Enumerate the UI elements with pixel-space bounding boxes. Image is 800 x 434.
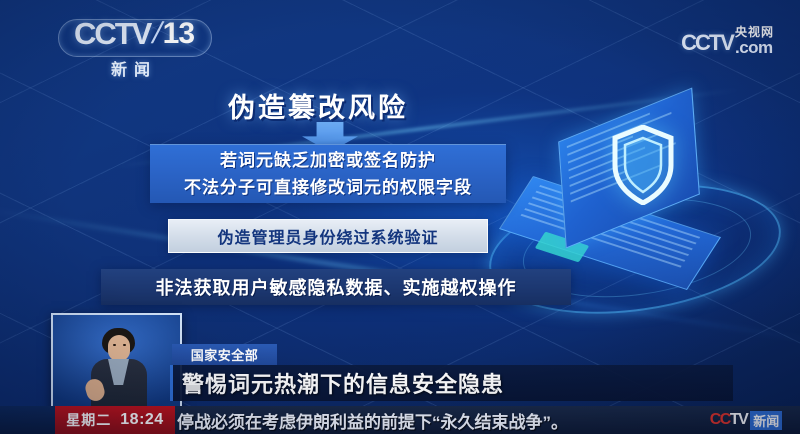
- screen-vignette: [0, 0, 800, 434]
- broadcast-screen: CCTV / 13 新闻 CCTV 央视网 .com: [0, 0, 800, 434]
